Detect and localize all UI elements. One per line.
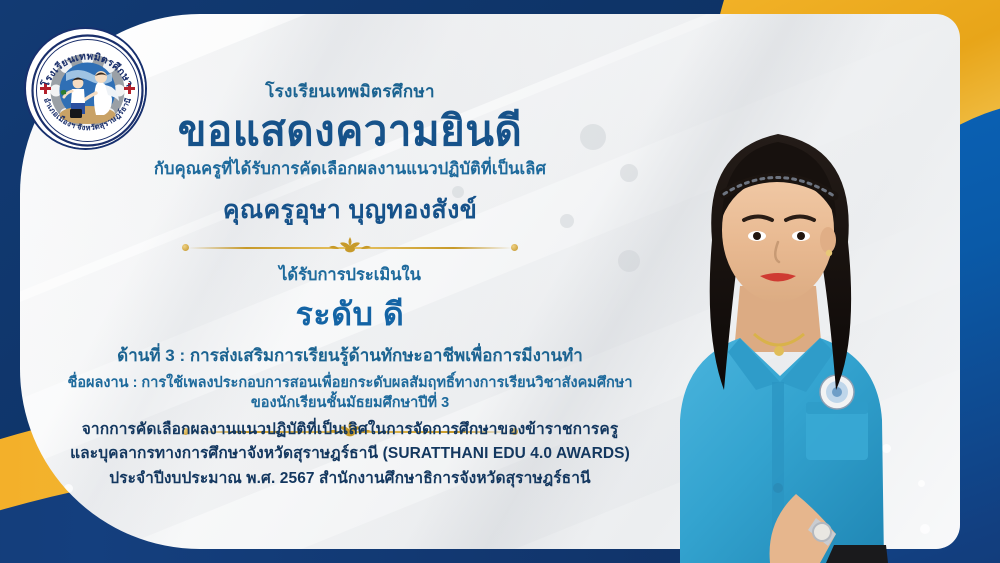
congratulations-heading: ขอแสดงความยินดี <box>40 109 660 154</box>
certificate-canvas: โรงเรียนเทพมิตรศึกษา อำเภอเมืองฯ จังหวัด… <box>0 0 1000 563</box>
teacher-name: คุณครูอุษา บุญทองสังข์ <box>40 190 660 230</box>
certificate-footer: จากการคัดเลือกผลงานแนวปฏิบัติที่เป็นเลิศ… <box>40 418 660 491</box>
work-title-line-2: ของนักเรียนชั้นมัธยมศึกษาปีที่ 3 <box>40 393 660 414</box>
footer-line-3: ประจำปีงบประมาณ พ.ศ. 2567 สำนักงานศึกษาธ… <box>40 467 660 491</box>
gold-divider-top <box>180 236 520 258</box>
certificate-text-block: โรงเรียนเทพมิตรศึกษา ขอแสดงความยินดี กับ… <box>40 78 660 446</box>
divider-cap-right <box>511 244 518 251</box>
award-level: ระดับ ดี <box>40 289 660 340</box>
divider-cap-left <box>182 244 189 251</box>
certificate-subtitle: กับคุณครูที่ได้รับการคัดเลือกผลงานแนวปฏิ… <box>40 156 660 182</box>
footer-line-1: จากการคัดเลือกผลงานแนวปฏิบัติที่เป็นเลิศ… <box>40 418 660 442</box>
school-name: โรงเรียนเทพมิตรศึกษา <box>40 78 660 105</box>
footer-line-2: และบุคลากรทางการศึกษาจังหวัดสุราษฎร์ธานี… <box>40 442 660 466</box>
fleur-de-lis-icon <box>327 235 373 262</box>
work-title-line-1: ชื่อผลงาน : การใช้เพลงประกอบการสอนเพื่อย… <box>40 373 660 394</box>
award-aspect: ด้านที่ 3 : การส่งเสริมการเรียนรู้ด้านทั… <box>40 342 660 369</box>
teacher-portrait <box>620 90 950 563</box>
assessed-in-label: ได้รับการประเมินใน <box>40 262 660 288</box>
